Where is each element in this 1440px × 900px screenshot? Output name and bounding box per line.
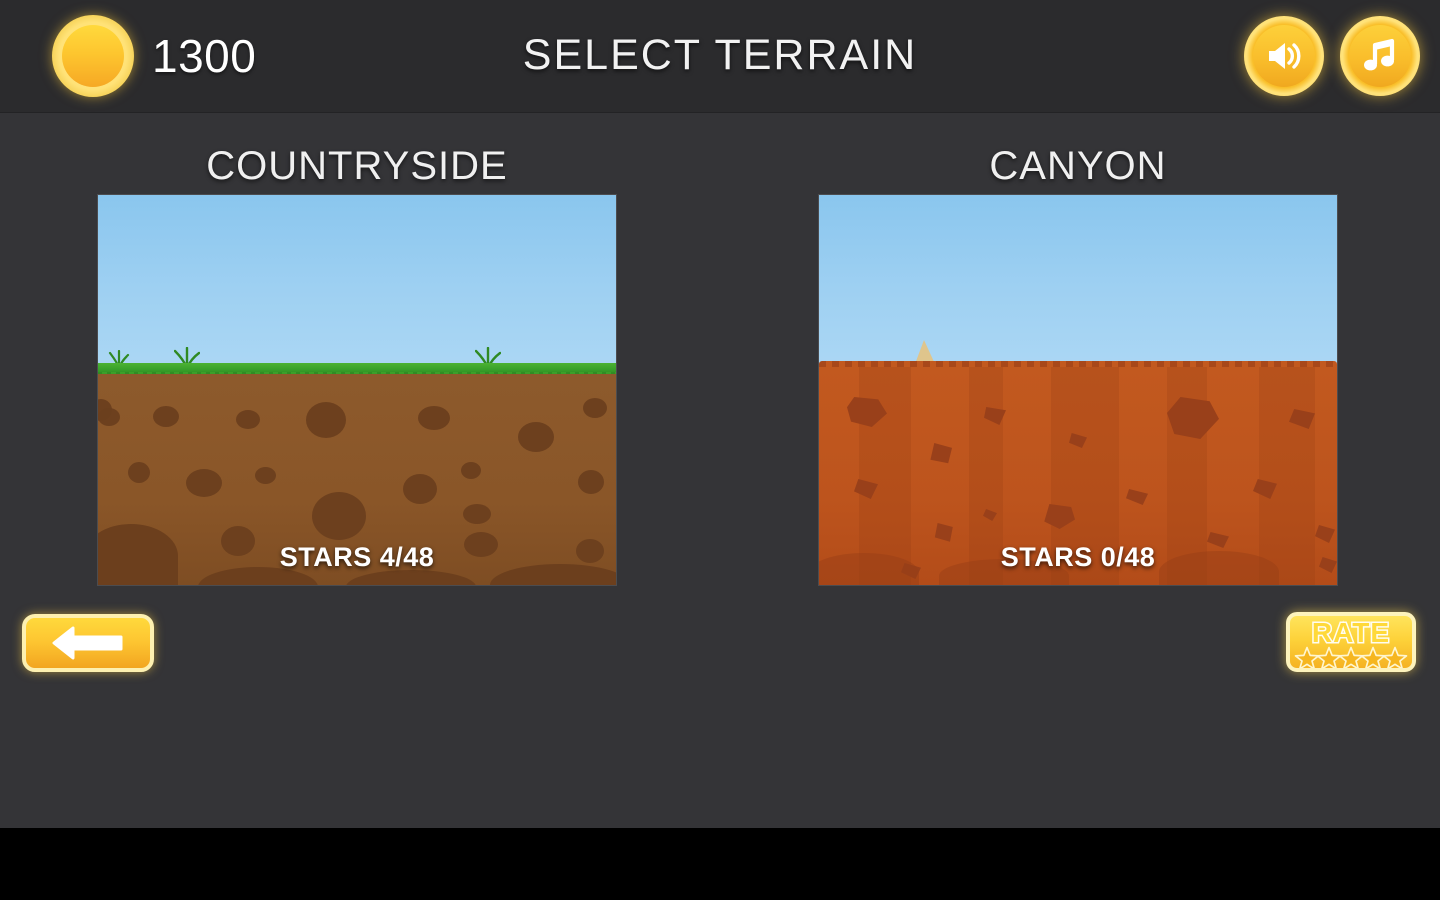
top-bar: 1300 SELECT TERRAIN (0, 0, 1440, 113)
sky (819, 195, 1337, 367)
sound-on-icon (1265, 39, 1303, 73)
rate-button[interactable]: RATE (1286, 612, 1416, 672)
rate-button-label: RATE (1290, 618, 1412, 649)
sky (98, 195, 616, 367)
arrow-left-icon (51, 626, 125, 660)
back-button[interactable] (22, 614, 154, 672)
star-icon (1382, 646, 1408, 671)
terrain-card-canyon[interactable]: CANYON (819, 145, 1337, 585)
music-note-icon (1363, 38, 1397, 74)
terrain-thumbnail-countryside[interactable]: STARS 4/48 (98, 195, 616, 585)
sound-toggle-button[interactable] (1244, 16, 1324, 96)
rate-stars (1290, 646, 1412, 671)
terrain-card-countryside[interactable]: COUNTRYSIDE (98, 145, 616, 585)
game-screen: 1300 SELECT TERRAIN COUNTRYSIDE (0, 0, 1440, 900)
page-title: SELECT TERRAIN (0, 31, 1440, 80)
stars-count-label: STARS 0/48 (819, 542, 1337, 573)
terrain-name-label: CANYON (819, 145, 1337, 187)
terrain-name-label: COUNTRYSIDE (98, 145, 616, 187)
stars-count-label: STARS 4/48 (98, 542, 616, 573)
android-navigation-bar (0, 828, 1440, 900)
terrain-thumbnail-canyon[interactable]: STARS 0/48 (819, 195, 1337, 585)
music-toggle-button[interactable] (1340, 16, 1420, 96)
